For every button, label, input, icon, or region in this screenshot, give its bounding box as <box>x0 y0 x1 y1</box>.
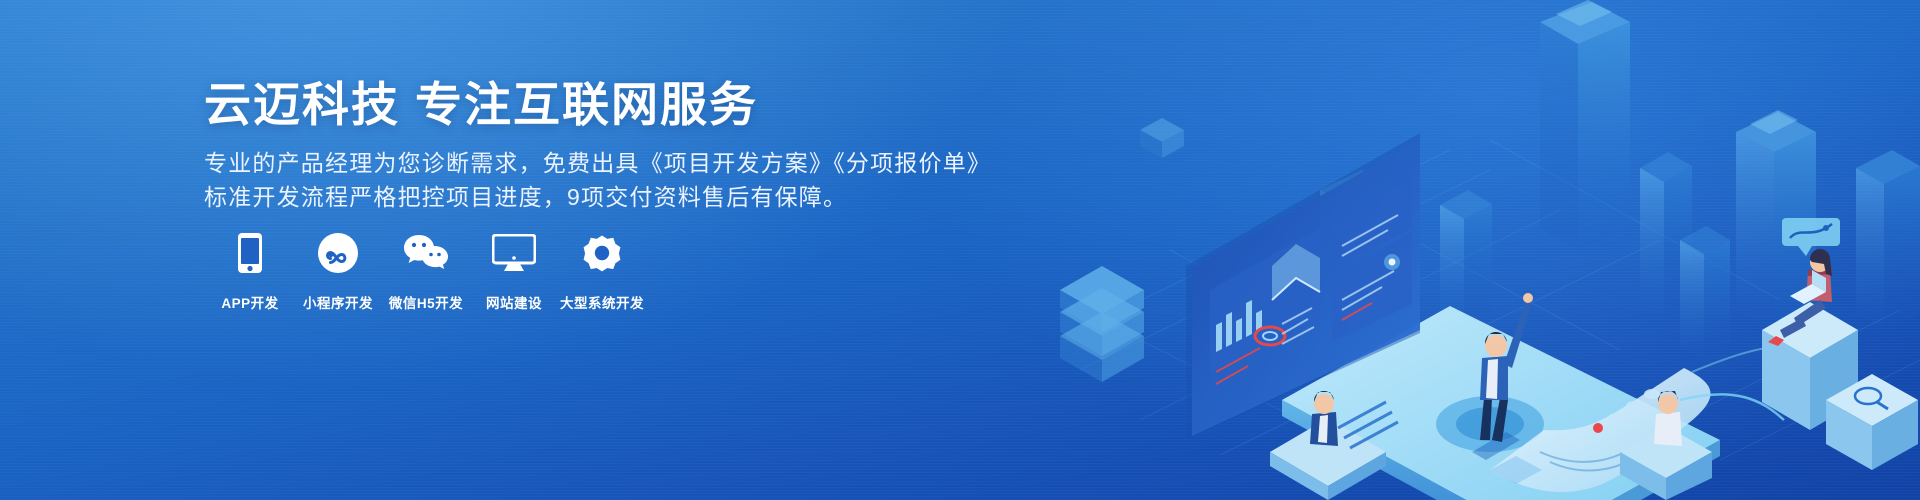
subtitle-line-1: 专业的产品经理为您诊断需求，免费出具《项目开发方案》《分项报价单》 <box>204 146 991 180</box>
gear-icon <box>581 230 623 276</box>
service-label: 小程序开发 <box>303 292 373 312</box>
wechat-icon <box>403 230 449 276</box>
service-label: APP开发 <box>221 292 278 312</box>
service-item-wechat-h5[interactable]: 微信H5开发 <box>382 230 470 312</box>
isometric-tech-city-illustration <box>1020 0 1920 500</box>
service-item-app[interactable]: APP开发 <box>206 230 294 312</box>
service-label: 微信H5开发 <box>389 292 463 312</box>
service-label: 大型系统开发 <box>560 292 644 312</box>
banner-content: 云迈科技 专注互联网服务 专业的产品经理为您诊断需求，免费出具《项目开发方案》《… <box>204 0 1124 500</box>
mini-program-icon <box>317 230 359 276</box>
service-list: APP开发 小程序开发 <box>206 230 646 312</box>
service-item-website[interactable]: 网站建设 <box>470 230 558 312</box>
service-label: 网站建设 <box>486 292 542 312</box>
service-item-miniprogram[interactable]: 小程序开发 <box>294 230 382 312</box>
page-title: 云迈科技 专注互联网服务 <box>204 74 758 136</box>
phone-icon <box>237 230 263 276</box>
subtitle-line-2: 标准开发流程严格把控项目进度，9项交付资料售后有保障。 <box>204 180 847 214</box>
hero-banner: 云迈科技 专注互联网服务 专业的产品经理为您诊断需求，免费出具《项目开发方案》《… <box>0 0 1920 500</box>
floating-cubes <box>1140 118 1184 158</box>
monitor-icon <box>492 230 536 276</box>
service-item-large-system[interactable]: 大型系统开发 <box>558 230 646 312</box>
